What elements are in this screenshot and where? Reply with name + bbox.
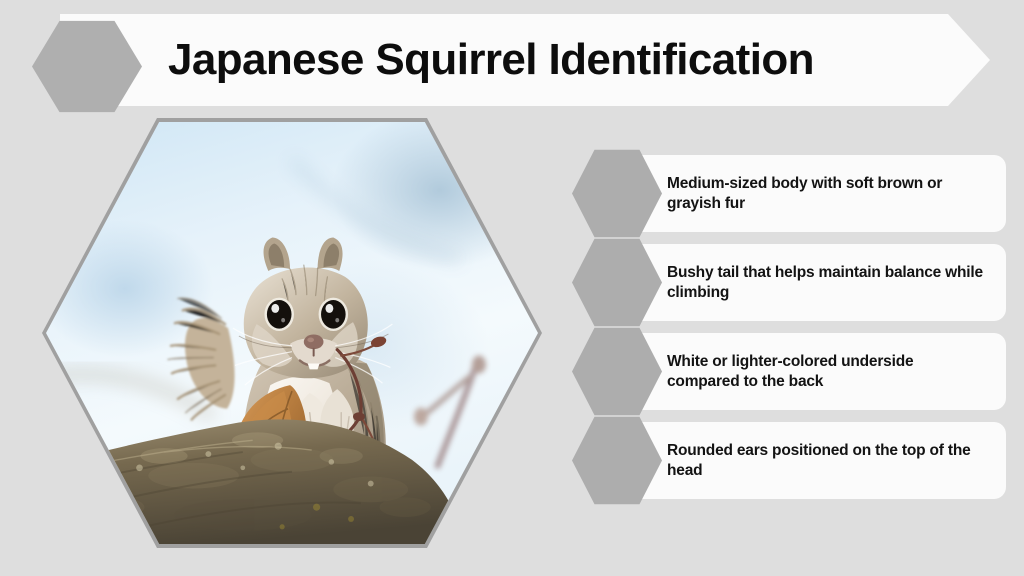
squirrel-illustration [46,122,538,544]
list-item[interactable]: Bushy tail that helps maintain balance w… [566,244,1006,321]
feature-text: White or lighter-colored underside compa… [667,333,988,410]
header-banner: Japanese Squirrel Identification [0,14,1024,106]
page-title: Japanese Squirrel Identification [168,14,814,106]
feature-text: Bushy tail that helps maintain balance w… [667,244,988,321]
feature-text: Medium-sized body with soft brown or gra… [667,155,988,232]
feature-text: Rounded ears positioned on the top of th… [667,422,988,499]
photo-hexagon-image [46,122,538,544]
list-item[interactable]: Medium-sized body with soft brown or gra… [566,155,1006,232]
list-item[interactable]: Rounded ears positioned on the top of th… [566,422,1006,499]
feature-list: Medium-sized body with soft brown or gra… [566,155,1006,511]
squirrel-photo-hexagon [42,118,542,548]
list-item[interactable]: White or lighter-colored underside compa… [566,333,1006,410]
